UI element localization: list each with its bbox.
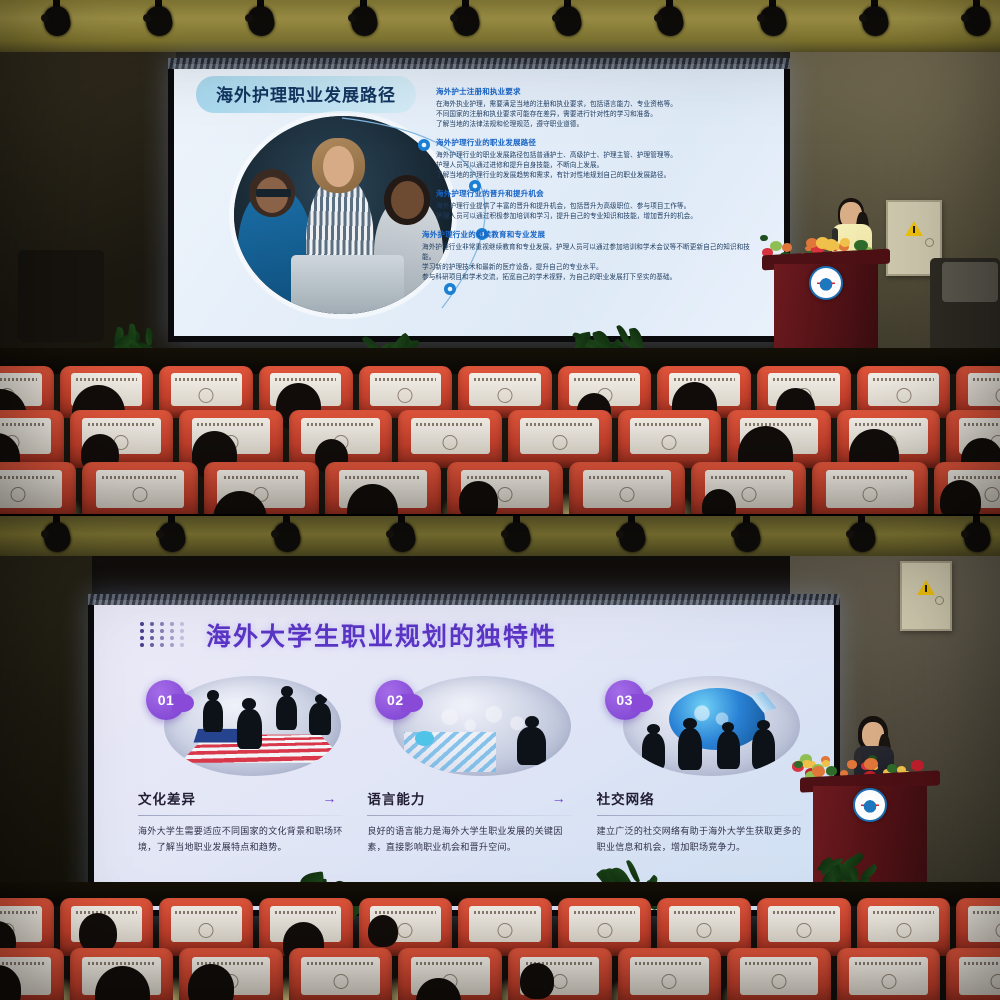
stage-light <box>40 516 74 556</box>
block-line: 护理人员可以通过进修和提升自身技能，不断向上发展。 <box>436 161 752 171</box>
audience-member <box>520 963 554 999</box>
block-line: 海外护理行业的职业发展路径包括普通护士、高级护士、护理主管、护理管理等。 <box>436 151 752 161</box>
column-1: 01 文化差异 → 海外大学生需要适应不同国家的文化背景和职场环境，了解当地职业… <box>138 674 343 856</box>
projection-screen-bottom: 海外大学生职业规划的独特性 <box>88 594 840 916</box>
side-chair-back <box>942 262 998 302</box>
audience-seat <box>289 948 393 1000</box>
dot-grid-decoration <box>140 622 192 652</box>
seat-logo-icon <box>771 974 786 989</box>
audience-seat <box>618 410 722 468</box>
seat-logo-icon <box>662 435 677 450</box>
audience-seating-top <box>0 366 1000 516</box>
warning-triangle-icon <box>917 580 935 595</box>
seat-logo-icon <box>697 923 712 938</box>
podium-top <box>762 222 890 350</box>
stage-light <box>142 0 176 40</box>
block-line: 海外护理行业非常重视继续教育和专业发展，护理人员可以通过参加培训和学术会议等不断… <box>422 243 752 263</box>
seat-headrest-cover <box>826 470 914 507</box>
seat-logo-icon <box>552 435 567 450</box>
panel-latch <box>925 238 934 247</box>
seat-headrest-cover <box>669 906 740 942</box>
seat-headrest-cover <box>96 470 184 507</box>
seat-logo-icon <box>896 923 911 938</box>
electrical-panel <box>900 561 952 631</box>
block-heading: 海外护士注册和执业要求 <box>436 86 752 97</box>
stage-light <box>615 516 649 556</box>
stage-light <box>858 0 892 40</box>
photo-top-presentation: 海外护理职业发展路径 <box>0 0 1000 516</box>
seat-headrest-cover <box>968 906 1000 942</box>
column-heading-text: 社交网络 <box>597 788 655 808</box>
text-block-1: 海外护士注册和执业要求 在海外执业护理，需要满足当地的注册和执业要求，包括语言能… <box>422 86 752 130</box>
seat-headrest-cover <box>469 373 540 405</box>
seat-headrest-cover <box>868 373 939 405</box>
column-heading-text: 语言能力 <box>367 788 425 808</box>
seat-headrest-cover <box>0 470 62 507</box>
block-line: 学习新的护理技术和最新的医疗设备，提升自己的专业水平。 <box>422 263 752 273</box>
seat-headrest-cover <box>171 373 242 405</box>
seat-logo-icon <box>132 487 147 502</box>
seat-logo-icon <box>398 923 413 938</box>
block-line: 了解当地的护理行业的发展趋势和需求，有针对性地规划自己的职业发展路径。 <box>436 171 752 181</box>
audience-seat <box>398 410 502 468</box>
slide-title: 海外大学生职业规划的独特性 <box>206 617 557 653</box>
seat-logo-icon <box>498 923 513 938</box>
text-block-4: 海外护理行业的继续教育和专业发展 海外护理行业非常重视继续教育和专业发展，护理人… <box>422 229 752 283</box>
column-3-illustration: 03 <box>597 674 802 778</box>
audience-seat <box>569 462 685 516</box>
seat-logo-icon <box>881 974 896 989</box>
block-line: 在海外执业护理，需要满足当地的注册和执业要求，包括语言能力、专业资格等。 <box>436 100 752 110</box>
divider <box>138 815 343 816</box>
text-block-3: 海外护理行业的晋升和提升机会 海外护理行业提供了丰富的晋升和提升机会，包括晋升为… <box>422 188 752 222</box>
seat-logo-icon <box>996 923 1000 938</box>
seat-logo-icon <box>552 974 567 989</box>
block-heading: 海外护理行业的职业发展路径 <box>436 137 752 148</box>
block-line: 了解当地的法律法规和伦理规范，遵守职业道德。 <box>436 120 752 130</box>
stage-light <box>960 0 994 40</box>
podium-emblem-icon <box>809 266 843 300</box>
stage-light <box>385 516 419 556</box>
audience-seat <box>727 948 831 1000</box>
seat-logo-icon <box>597 923 612 938</box>
stage-light <box>347 0 381 40</box>
arrow-right-icon: → <box>552 790 567 806</box>
seat-logo-icon <box>662 974 677 989</box>
seat-headrest-cover <box>849 957 928 995</box>
divider <box>367 815 572 816</box>
audience-seat <box>812 462 928 516</box>
seat-logo-icon <box>796 923 811 938</box>
column-1-body: 海外大学生需要适应不同国家的文化背景和职场环境，了解当地职业发展特点和趋势。 <box>138 824 343 856</box>
screen-bottom-lip <box>88 594 840 605</box>
seat-headrest-cover <box>740 957 819 995</box>
stage-light <box>500 516 534 556</box>
wall-left <box>0 556 92 886</box>
seat-logo-icon <box>985 487 1000 502</box>
stage-light <box>449 0 483 40</box>
seat-headrest-cover <box>569 906 640 942</box>
block-heading: 海外护理行业的继续教育和专业发展 <box>422 229 752 240</box>
seat-headrest-cover <box>301 957 380 995</box>
block-line: 护理人员可以通过积极参加培训和学习，提升自己的专业知识和技能，增加晋升的机会。 <box>436 212 752 222</box>
seat-headrest-cover <box>469 906 540 942</box>
seat-logo-icon <box>333 974 348 989</box>
stage-light <box>155 516 189 556</box>
stage-light <box>270 516 304 556</box>
seat-logo-icon <box>398 388 413 403</box>
column-heading-text: 文化差异 <box>138 788 196 808</box>
column-2-body: 良好的语言能力是海外大学生职业发展的关键因素，直接影响职业机会和晋升空间。 <box>367 824 572 856</box>
column-1-number: 01 <box>146 680 186 720</box>
seat-headrest-cover <box>868 906 939 942</box>
seat-headrest-cover <box>630 418 709 454</box>
audience-seating-bottom <box>0 898 1000 1000</box>
stage-light <box>756 0 790 40</box>
auditorium-scene: 海外护理职业发展路径 <box>0 0 1000 1000</box>
stage-light <box>551 0 585 40</box>
slide-nursing-career-path: 海外护理职业发展路径 <box>174 64 784 336</box>
podium-emblem-icon <box>853 788 887 822</box>
block-line: 参与科研项目和学术交流，拓宽自己的学术视野，为自己的职业发展打下坚实的基础。 <box>422 273 752 283</box>
seat-logo-icon <box>991 974 1000 989</box>
stage-light <box>40 0 74 40</box>
audience-seat <box>82 462 198 516</box>
seat-logo-icon <box>199 923 214 938</box>
audience-seat <box>946 948 1000 1000</box>
column-2-illustration: 02 <box>367 674 572 778</box>
panel-latch <box>935 596 944 605</box>
seat-headrest-cover <box>583 470 671 507</box>
column-2-heading: 语言能力 → <box>367 788 572 808</box>
block-heading: 海外护理行业的晋升和提升机会 <box>436 188 752 199</box>
seat-logo-icon <box>619 487 634 502</box>
stage-light <box>244 0 278 40</box>
column-3-body: 建立广泛的社交网络有助于海外大学生获取更多的职业信息和机会，增加职场竞争力。 <box>597 824 802 856</box>
seat-logo-icon <box>741 487 756 502</box>
seat-logo-icon <box>443 435 458 450</box>
column-3-heading: 社交网络 <box>597 788 802 808</box>
seat-logo-icon <box>199 388 214 403</box>
audience-member <box>459 481 498 516</box>
block-line: 不同国家的注册和执业要求可能存在差异，需要进行针对性的学习和准备。 <box>436 110 752 120</box>
audience-seat <box>837 948 941 1000</box>
stage-light <box>653 0 687 40</box>
column-3: 03 社交网络 建立广泛的社交网络有助于海外大学生获取更多的职业信息和机会，增加… <box>597 674 802 856</box>
seat-headrest-cover <box>370 373 441 405</box>
audience-seat <box>0 462 76 516</box>
seat-logo-icon <box>896 388 911 403</box>
screen-top-lip <box>168 58 790 69</box>
seat-headrest-cover <box>959 957 1000 995</box>
column-3-number: 03 <box>605 680 645 720</box>
warning-triangle-icon <box>905 221 923 236</box>
slide-columns: 01 文化差异 → 海外大学生需要适应不同国家的文化背景和职场环境，了解当地职业… <box>138 674 802 856</box>
seat-headrest-cover <box>171 906 242 942</box>
seat-headrest-cover <box>520 418 599 454</box>
divider <box>597 815 802 816</box>
column-2: 02 语言能力 → 良好的语言能力是海外大学生职业发展的关键因素，直接影响职业机… <box>367 674 572 856</box>
arrow-right-icon: → <box>322 790 337 806</box>
slide-text-blocks: 海外护士注册和执业要求 在海外执业护理，需要满足当地的注册和执业要求，包括语言能… <box>422 86 752 291</box>
seat-logo-icon <box>498 487 513 502</box>
stage-light <box>960 516 994 556</box>
audience-seat <box>618 948 722 1000</box>
slide-overseas-career-uniqueness: 海外大学生职业规划的独特性 <box>94 600 834 910</box>
audience-seat <box>508 410 612 468</box>
column-1-heading: 文化差异 → <box>138 788 343 808</box>
projection-screen-top: 海外护理职业发展路径 <box>168 58 790 342</box>
seat-headrest-cover <box>768 906 839 942</box>
seat-headrest-cover <box>968 373 1000 405</box>
seat-logo-icon <box>996 388 1000 403</box>
stage-light <box>730 516 764 556</box>
block-line: 海外护理行业提供了丰富的晋升和提升机会，包括晋升为高级职位、参与项目工作等。 <box>436 202 752 212</box>
seat-headrest-cover <box>411 418 490 454</box>
seat-logo-icon <box>863 487 878 502</box>
seat-logo-icon <box>498 388 513 403</box>
stage-light <box>845 516 879 556</box>
audience-member <box>368 915 399 947</box>
text-block-2: 海外护理行业的职业发展路径 海外护理行业的职业发展路径包括普通护士、高级护士、护… <box>422 137 752 181</box>
photo-bottom-presentation: 海外大学生职业规划的独特性 <box>0 516 1000 1000</box>
seat-headrest-cover <box>630 957 709 995</box>
seat-logo-icon <box>10 487 25 502</box>
side-chair <box>18 250 104 342</box>
column-1-illustration: 01 <box>138 674 343 778</box>
